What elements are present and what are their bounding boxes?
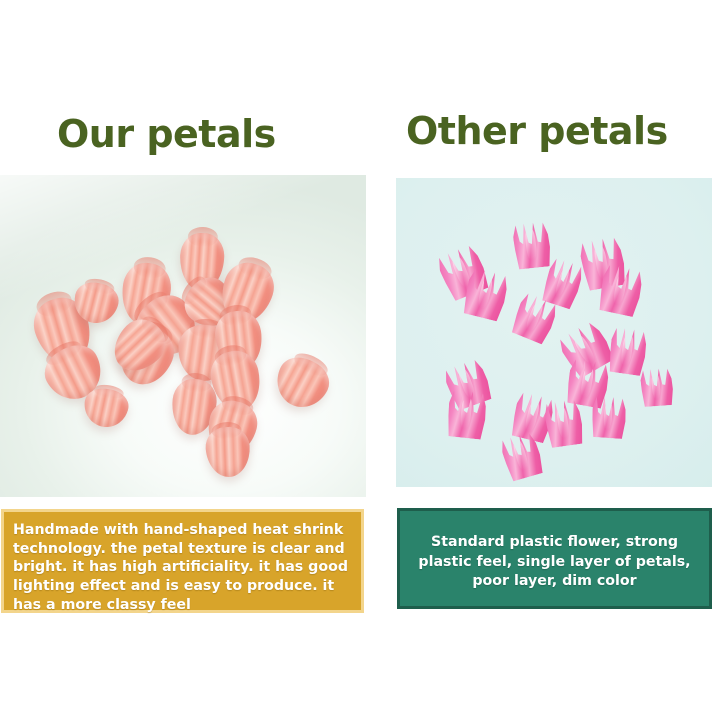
pink-petal-9 <box>607 326 649 377</box>
pink-petal-3 <box>512 220 553 270</box>
coral-petal-13 <box>81 385 131 430</box>
comparison-infographic: Our petals Other petals Handmade with ha… <box>0 0 712 712</box>
coral-petals-photo <box>0 175 366 497</box>
pink-petals-photo <box>396 178 712 487</box>
pink-petal-11 <box>640 367 675 407</box>
page-title-our-petals: Our petals <box>57 115 276 153</box>
coral-petal-17 <box>268 350 336 416</box>
caption-our-petals: Handmade with hand-shaped heat shrink te… <box>1 509 364 613</box>
pink-petal-8 <box>555 318 616 380</box>
caption-other-petals: Standard plastic flower, strong plastic … <box>397 508 712 609</box>
pink-petal-16 <box>591 395 628 439</box>
coral-petal-18 <box>204 426 251 479</box>
page-title-other-petals: Other petals <box>406 112 668 150</box>
